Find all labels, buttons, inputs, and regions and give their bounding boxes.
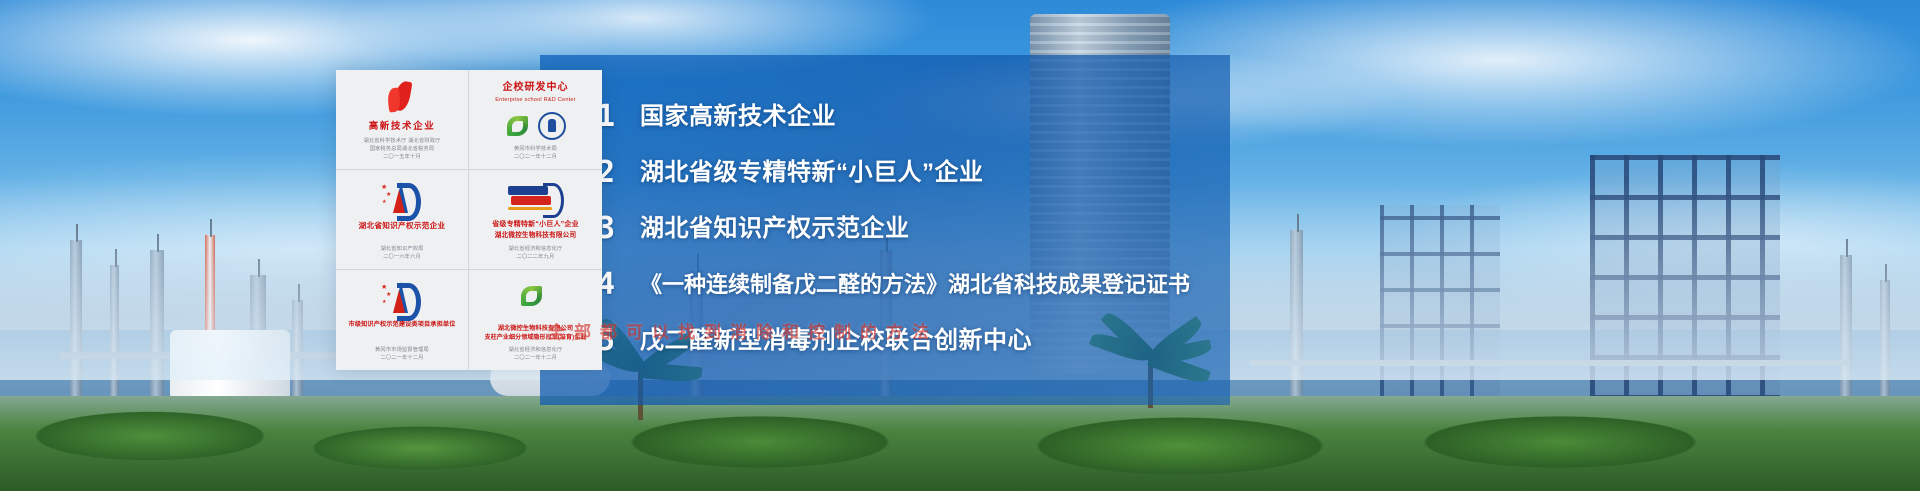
certificate-card-3[interactable]: ★★★ 湖北省知识产权示范企业 湖北省知识产权局 二〇一六年六月 xyxy=(336,170,469,270)
certificate-issuers: 黄冈市市场监督管理局 二〇二一年十二月 xyxy=(375,346,429,366)
ip-sail-icon: ★★★ xyxy=(381,278,423,318)
certificate-issuers: 湖北省经济和信息化厅 二〇二二年九月 xyxy=(509,245,563,265)
ip-sail-icon: ★★★ xyxy=(381,178,423,218)
banner-stage: 全部都可以找到消除和控制的方法 高新技术企业 湖北省科学技术厅 湖北省财政厅 国… xyxy=(0,0,1920,491)
certificate-title: 高新技术企业 xyxy=(369,121,436,133)
issuer-line: 国家税务总局湖北省税务局 xyxy=(363,145,440,153)
certificate-title: 支柱产业细分领域隐形冠军(培育)企业 xyxy=(485,335,587,343)
certificate-card-4[interactable]: 省级专精特新“小巨人”企业 湖北微控生物科技有限公司 湖北省经济和信息化厅 二〇… xyxy=(469,170,602,270)
specialized-new-badge-icon xyxy=(508,178,564,218)
certificate-card-2[interactable]: 企校研发中心 Enterprise school R&D Center 黄冈市科… xyxy=(469,70,602,170)
flame-icon xyxy=(385,78,419,118)
certificate-card-1[interactable]: 高新技术企业 湖北省科学技术厅 湖北省财政厅 国家税务总局湖北省税务局 二〇一五… xyxy=(336,70,469,170)
issue-date: 二〇一五年十月 xyxy=(363,153,440,161)
university-seal-icon xyxy=(538,112,566,140)
honour-label: 《一种连续制备戊二醛的方法》湖北省科技成果登记证书 xyxy=(640,272,1190,297)
issue-date: 二〇二二年九月 xyxy=(509,253,563,261)
certificate-grid: 高新技术企业 湖北省科学技术厅 湖北省财政厅 国家税务总局湖北省税务局 二〇一五… xyxy=(336,70,602,370)
partner-logos xyxy=(505,107,566,145)
honour-item-03[interactable]: 03 湖北省知识产权示范企业 xyxy=(580,214,1230,244)
issue-date: 二〇一六年六月 xyxy=(380,253,423,261)
honour-label: 湖北省级专精特新“小巨人”企业 xyxy=(640,159,984,187)
issue-date: 二〇二一年十二月 xyxy=(509,354,563,362)
honours-panel: 01 国家高新技术企业 02 湖北省级专精特新“小巨人”企业 03 湖北省知识产… xyxy=(540,55,1230,405)
leaf-logo-icon xyxy=(505,113,531,139)
honours-list: 01 国家高新技术企业 02 湖北省级专精特新“小巨人”企业 03 湖北省知识产… xyxy=(540,55,1230,405)
certificate-title: 省级专精特新“小巨人”企业 xyxy=(492,221,579,230)
issuer-line: 黄冈市市场监督管理局 xyxy=(375,346,429,354)
issuer-line: 黄冈市科学技术局 xyxy=(514,145,557,153)
honour-label: 国家高新技术企业 xyxy=(640,103,836,131)
certificate-issuers: 湖北省经济和信息化厅 二〇二一年十二月 xyxy=(509,346,563,366)
honour-label: 湖北省知识产权示范企业 xyxy=(640,215,910,243)
issuer-line: 湖北省知识产权局 xyxy=(380,245,423,253)
certificate-card-6[interactable]: 湖北微控生物科技有限公司 支柱产业细分领域隐形冠军(培育)企业 湖北省经济和信息… xyxy=(469,270,602,370)
honour-label: 戊二醛新型消毒剂企校联合创新中心 xyxy=(640,327,1032,355)
issuer-line: 湖北省经济和信息化厅 xyxy=(509,245,563,253)
certificate-issuers: 黄冈市科学技术局 二〇二一年十二月 xyxy=(514,145,557,165)
certificate-title: 企校研发中心 xyxy=(503,82,569,95)
greenery-foreground xyxy=(0,396,1920,491)
certificate-card-5[interactable]: ★★★ 市级知识产权示范建设类项目承担单位 黄冈市市场监督管理局 二〇二一年十二… xyxy=(336,270,469,370)
honour-item-05[interactable]: 05 戊二醛新型消毒剂企校联合创新中心 xyxy=(580,326,1230,356)
honour-item-02[interactable]: 02 湖北省级专精特新“小巨人”企业 xyxy=(580,158,1230,188)
certificate-issuers: 湖北省知识产权局 二〇一六年六月 xyxy=(380,245,423,265)
issuer-line: 湖北省科学技术厅 湖北省财政厅 xyxy=(363,137,440,145)
issuer-line: 湖北省经济和信息化厅 xyxy=(509,346,563,354)
certificate-title: 湖北省知识产权示范企业 xyxy=(359,221,446,230)
leaf-logo-icon xyxy=(519,278,553,322)
certificate-title: 市级知识产权示范建设类项目承担单位 xyxy=(349,321,456,329)
honour-item-04[interactable]: 04 《一种连续制备戊二醛的方法》湖北省科技成果登记证书 xyxy=(580,270,1230,300)
honour-item-01[interactable]: 01 国家高新技术企业 xyxy=(580,102,1230,132)
certificate-subtitle: Enterprise school R&D Center xyxy=(495,97,576,103)
issue-date: 二〇二一年十二月 xyxy=(375,354,429,362)
certificate-issuers: 湖北省科学技术厅 湖北省财政厅 国家税务总局湖北省税务局 二〇一五年十月 xyxy=(363,137,440,165)
certificate-company: 湖北微控生物科技有限公司 xyxy=(495,232,577,240)
certificate-company: 湖北微控生物科技有限公司 xyxy=(498,325,573,333)
issue-date: 二〇二一年十二月 xyxy=(514,153,557,161)
